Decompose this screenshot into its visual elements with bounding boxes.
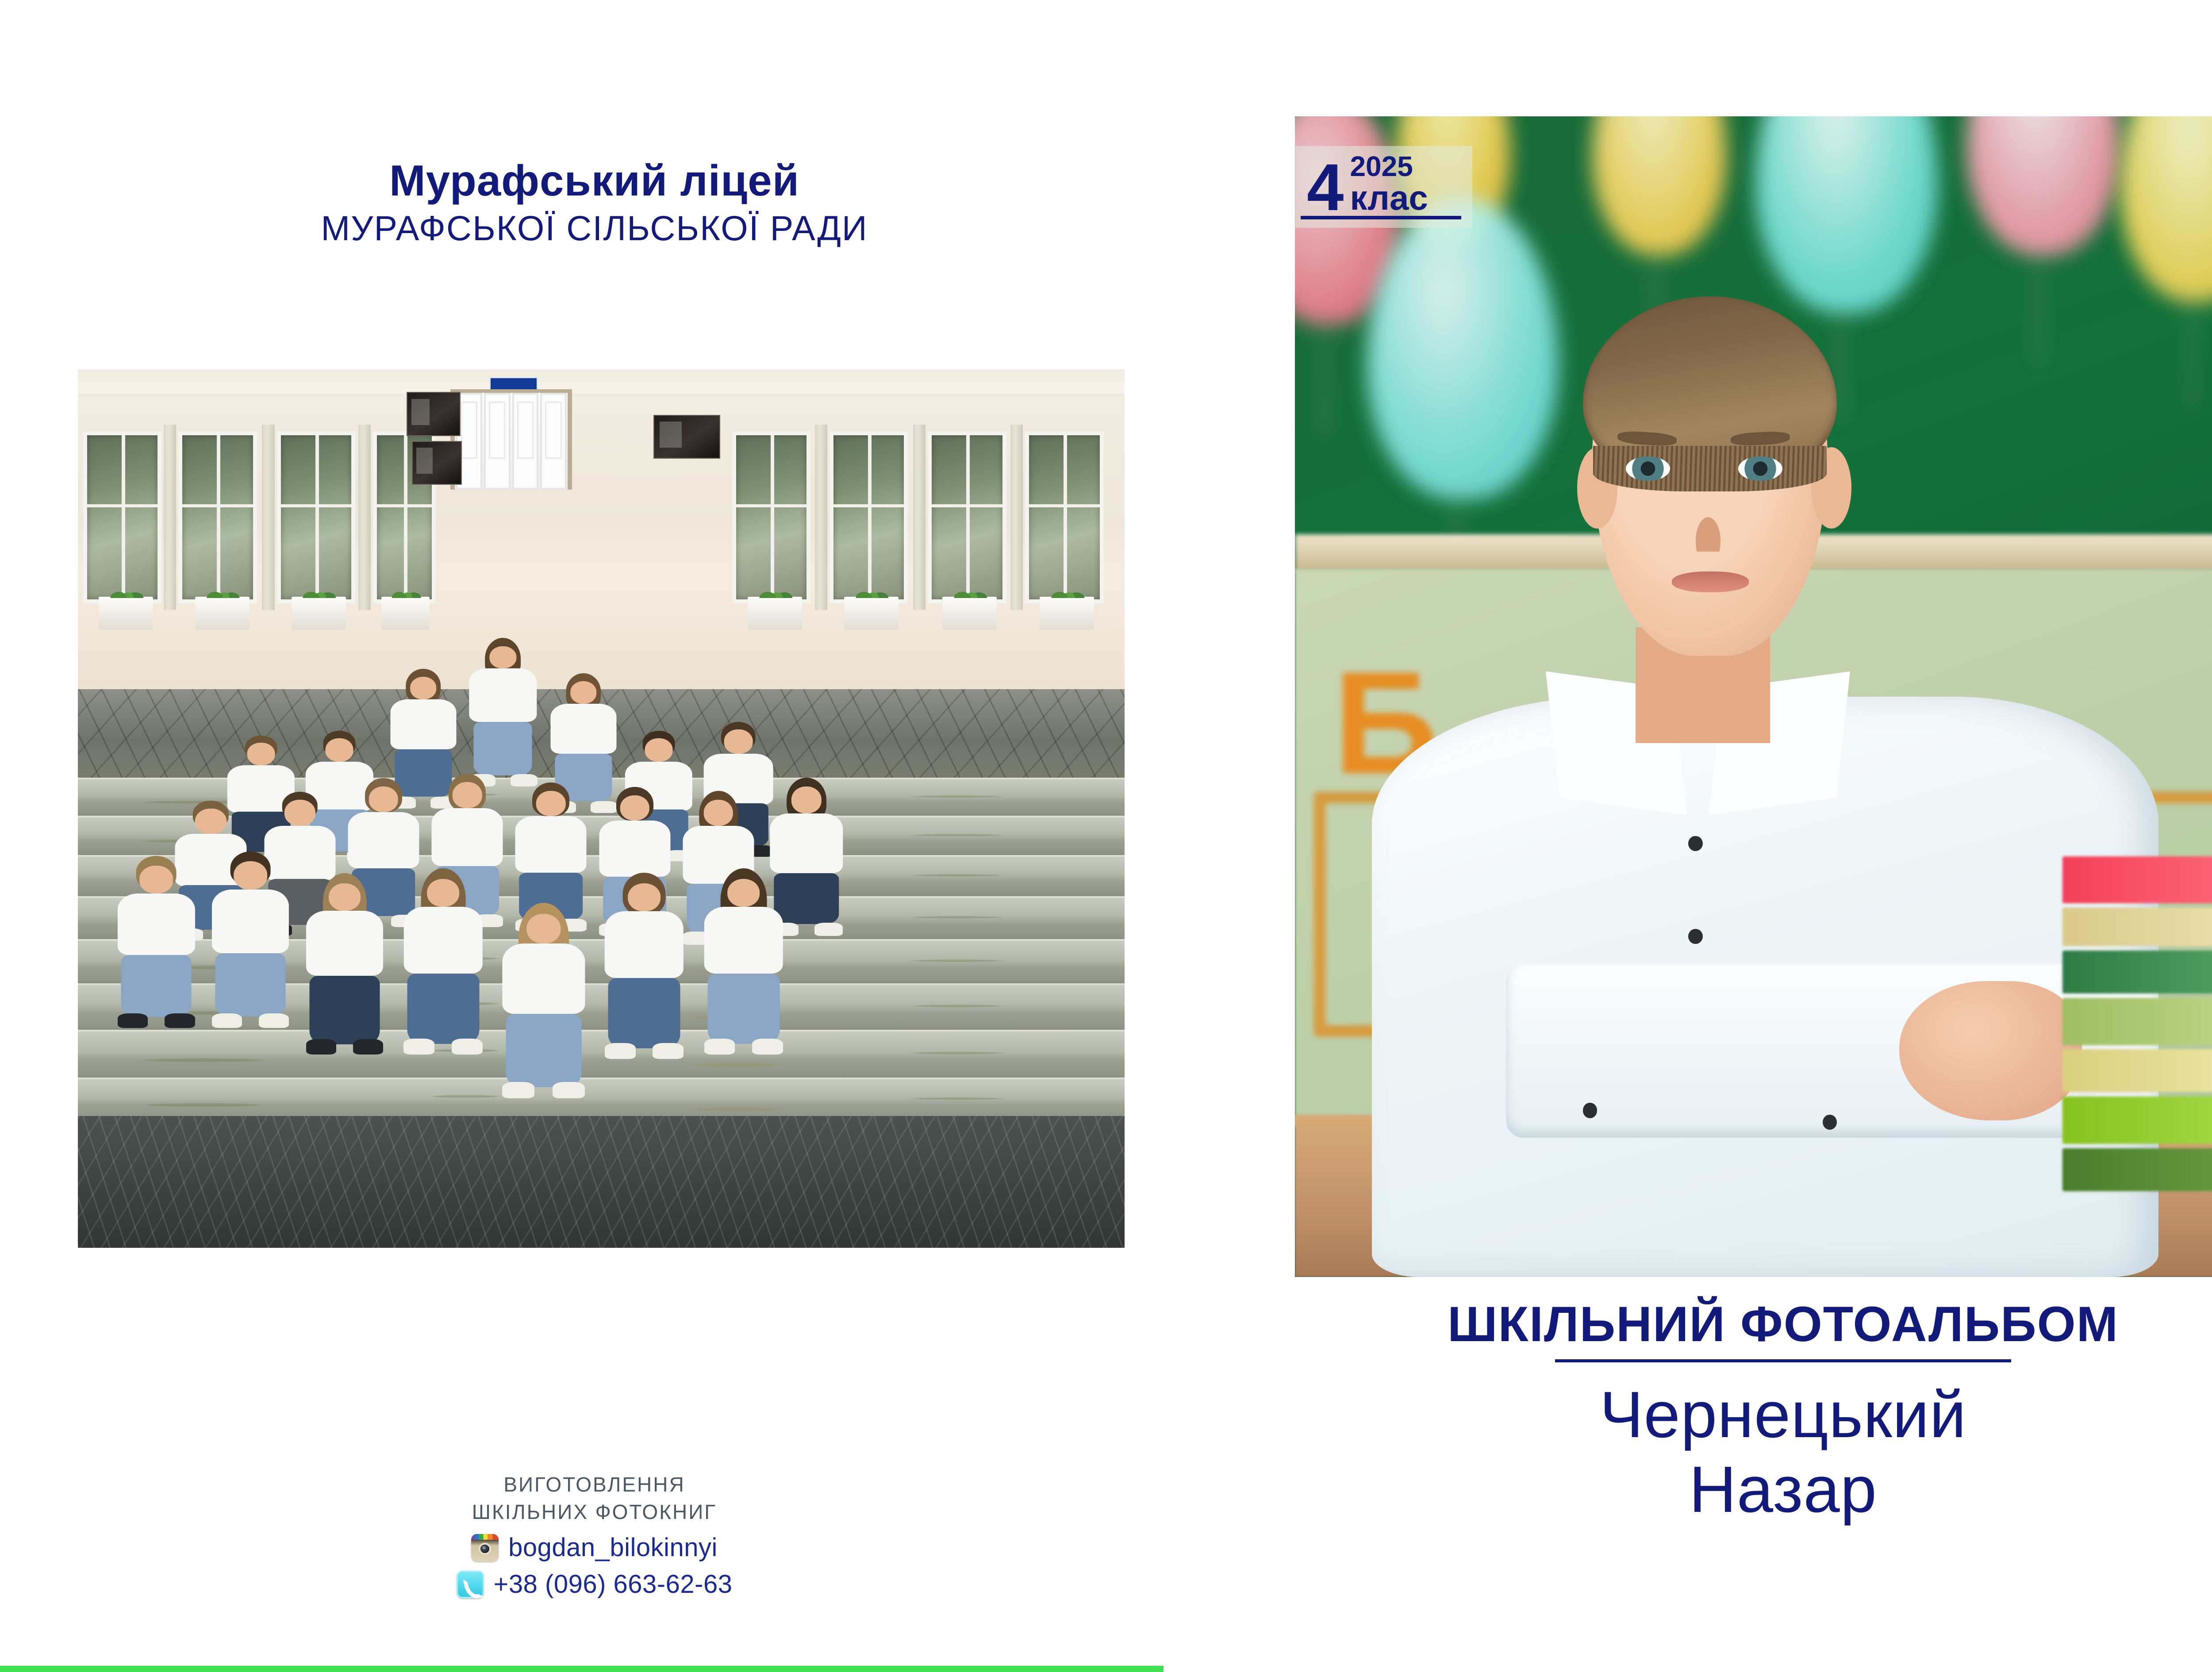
cobblestone-pavement bbox=[78, 1116, 1125, 1248]
footer-line-1: ВИГОТОВЛЕННЯ bbox=[0, 1471, 1189, 1498]
entrance-door-frame bbox=[450, 389, 572, 490]
left-page: Мурафський ліцей МУРАФСЬКОЇ СІЛЬСЬКОЇ РА… bbox=[0, 0, 1189, 1672]
book-stack bbox=[2062, 848, 2212, 1277]
book bbox=[2062, 951, 2212, 993]
producer-footer: ВИГОТОВЛЕННЯ ШКІЛЬНИХ ФОТОКНИГ bogdan_bi… bbox=[0, 1471, 1189, 1599]
progress-bar-track[interactable] bbox=[0, 1666, 2212, 1672]
pilaster bbox=[1010, 425, 1023, 610]
facade-band bbox=[78, 382, 1125, 394]
window-planter bbox=[942, 597, 997, 629]
phone-number[interactable]: +38 (096) 663-62-63 bbox=[494, 1569, 733, 1599]
entrance-door bbox=[455, 393, 567, 490]
pupil bbox=[465, 646, 540, 787]
window bbox=[1025, 431, 1103, 603]
window-planter bbox=[292, 597, 346, 629]
school-entrance bbox=[450, 379, 572, 490]
eye-right bbox=[1738, 456, 1782, 481]
hair bbox=[1583, 296, 1837, 471]
window bbox=[829, 431, 908, 603]
book bbox=[2062, 998, 2212, 1045]
phone-contact-row[interactable]: +38 (096) 663-62-63 bbox=[0, 1569, 1189, 1599]
window bbox=[178, 431, 257, 603]
school-heading: Мурафський ліцей МУРАФСЬКОЇ СІЛЬСЬКОЇ РА… bbox=[0, 157, 1189, 249]
school-name: Мурафський ліцей bbox=[0, 157, 1189, 205]
window-planter bbox=[1040, 597, 1094, 629]
school-facade bbox=[78, 369, 1125, 694]
book bbox=[2062, 1049, 2212, 1092]
hand bbox=[1899, 981, 2081, 1120]
footer-line-2: ШКІЛЬНИХ ФОТОКНИГ bbox=[0, 1498, 1189, 1526]
pupil bbox=[303, 883, 387, 1055]
window-planter bbox=[748, 597, 802, 629]
album-title-block: ШКІЛЬНИЙ ФОТОАЛЬБОМ Чернецький Назар bbox=[1189, 1298, 2212, 1526]
badge-year: 2025 bbox=[1350, 152, 1428, 180]
window-planter bbox=[381, 597, 430, 629]
pupil bbox=[400, 879, 486, 1055]
album-label: ШКІЛЬНИЙ ФОТОАЛЬБОМ bbox=[1448, 1298, 2119, 1351]
window bbox=[83, 431, 161, 603]
student-portrait-photo: Б bbox=[1295, 116, 2212, 1277]
class-group-photo bbox=[78, 369, 1125, 1248]
pilaster bbox=[913, 425, 926, 610]
pilaster bbox=[358, 425, 371, 610]
window-planter bbox=[844, 597, 899, 629]
pupil bbox=[601, 883, 687, 1059]
book bbox=[2062, 856, 2212, 904]
pupil bbox=[701, 879, 787, 1055]
window bbox=[732, 431, 810, 603]
cuff-button bbox=[1583, 1103, 1598, 1118]
badge-year-class-stack: 2025 клас bbox=[1350, 152, 1428, 218]
school-subtitle: МУРАФСЬКОЇ СІЛЬСЬКОЇ РАДИ bbox=[0, 208, 1189, 249]
eye-left bbox=[1626, 456, 1670, 481]
door-leaf bbox=[540, 393, 567, 490]
door-leaf bbox=[512, 393, 539, 490]
badge-underline bbox=[1301, 216, 1461, 219]
window-planter bbox=[195, 597, 250, 629]
badge-class-word: клас bbox=[1350, 180, 1428, 215]
book bbox=[2062, 1148, 2212, 1191]
instagram-icon bbox=[471, 1534, 499, 1561]
album-label-underline bbox=[1555, 1359, 2012, 1362]
window bbox=[928, 431, 1006, 603]
pilaster bbox=[262, 425, 274, 610]
pupil bbox=[499, 914, 588, 1098]
cuff-button bbox=[1823, 1115, 1837, 1130]
nose bbox=[1686, 499, 1730, 552]
step bbox=[78, 1078, 1125, 1122]
window bbox=[277, 431, 355, 603]
memorial-plaque bbox=[407, 392, 461, 436]
phone-icon bbox=[457, 1571, 484, 1598]
shirt-button bbox=[1688, 929, 1703, 944]
album-label-wrap: ШКІЛЬНИЙ ФОТОАЛЬБОМ bbox=[1448, 1298, 2119, 1351]
memorial-plaque bbox=[412, 441, 462, 485]
instagram-contact-row[interactable]: bogdan_bilokinnyi bbox=[0, 1533, 1189, 1562]
class-year-badge: 4 2025 клас bbox=[1295, 146, 1472, 228]
book bbox=[2062, 908, 2212, 946]
door-leaf bbox=[484, 393, 511, 490]
pilaster bbox=[815, 425, 827, 610]
student-surname: Чернецький bbox=[1189, 1378, 2212, 1452]
mouth bbox=[1672, 571, 1749, 592]
instagram-handle[interactable]: bogdan_bilokinnyi bbox=[508, 1533, 718, 1562]
photobook-spread: Мурафський ліцей МУРАФСЬКОЇ СІЛЬСЬКОЇ РА… bbox=[0, 0, 2212, 1672]
class-number: 4 bbox=[1307, 157, 1343, 218]
window-planter bbox=[99, 597, 153, 629]
student-firstname: Назар bbox=[1189, 1453, 2212, 1526]
book bbox=[2062, 1097, 2212, 1144]
pilaster bbox=[164, 425, 176, 610]
memorial-plaque bbox=[653, 415, 720, 459]
badge-content: 4 2025 клас bbox=[1307, 152, 1428, 218]
shirt-button bbox=[1688, 836, 1703, 851]
progress-bar-fill bbox=[0, 1666, 1164, 1672]
pupil bbox=[115, 866, 198, 1028]
pupil bbox=[209, 861, 292, 1028]
